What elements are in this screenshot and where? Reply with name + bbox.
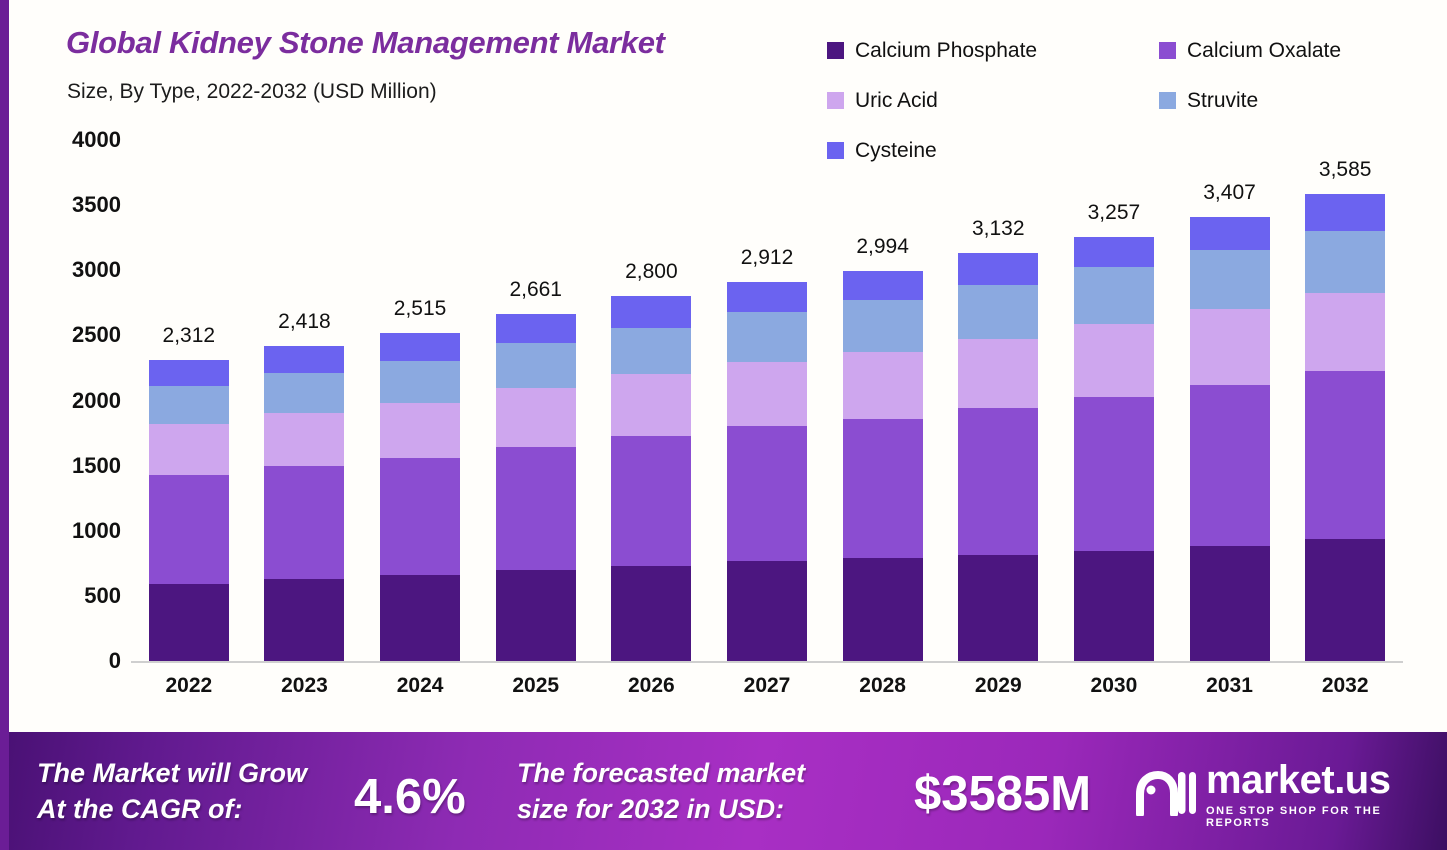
bar-segment-calcium-oxalate[interactable] — [727, 426, 807, 561]
footer-cagr-value: 4.6% — [354, 769, 466, 825]
bar-total-label: 2,515 — [362, 297, 478, 321]
bar-segment-calcium-phosphate[interactable] — [843, 558, 923, 661]
bar-segment-uric-acid[interactable] — [843, 352, 923, 418]
y-axis-tick: 1000 — [29, 518, 121, 544]
bar-segment-struvite[interactable] — [149, 386, 229, 424]
bar-segment-calcium-oxalate[interactable] — [1074, 397, 1154, 551]
stacked-bar[interactable] — [727, 282, 807, 661]
y-axis-tick: 0 — [29, 648, 121, 674]
bar-group-2031[interactable]: 3,4072031 — [1172, 140, 1288, 661]
legend-swatch-icon — [1159, 92, 1176, 109]
bar-segment-uric-acid[interactable] — [727, 362, 807, 426]
bar-segment-calcium-oxalate[interactable] — [380, 458, 460, 575]
bar-segment-calcium-phosphate[interactable] — [727, 561, 807, 661]
y-axis-tick: 3500 — [29, 192, 121, 218]
bar-segment-cysteine[interactable] — [1305, 194, 1385, 231]
bar-segment-uric-acid[interactable] — [1190, 309, 1270, 385]
legend-item-uric-acid[interactable]: Uric Acid — [827, 90, 938, 111]
bar-group-2025[interactable]: 2,6612025 — [478, 140, 594, 661]
bar-segment-calcium-phosphate[interactable] — [958, 555, 1038, 661]
brand-logo: market.us ONE STOP SHOP FOR THE REPORTS — [1134, 760, 1447, 829]
footer-banner: The Market will Grow At the CAGR of: 4.6… — [9, 732, 1447, 850]
stacked-bar[interactable] — [496, 314, 576, 661]
bar-total-label: 3,257 — [1056, 201, 1172, 225]
bar-segment-struvite[interactable] — [496, 343, 576, 387]
stacked-bar[interactable] — [380, 333, 460, 661]
stacked-bar[interactable] — [611, 296, 691, 661]
bar-segment-calcium-oxalate[interactable] — [1190, 385, 1270, 546]
x-axis-tick-2032: 2032 — [1287, 674, 1403, 698]
bar-group-2028[interactable]: 2,9942028 — [825, 140, 941, 661]
bar-group-2026[interactable]: 2,8002026 — [593, 140, 709, 661]
x-axis-tick-2022: 2022 — [131, 674, 247, 698]
bar-total-label: 2,994 — [825, 235, 941, 259]
bar-total-label: 3,132 — [940, 217, 1056, 241]
bar-total-label: 2,912 — [709, 246, 825, 270]
bar-segment-calcium-oxalate[interactable] — [958, 408, 1038, 555]
x-axis-tick-2029: 2029 — [940, 674, 1056, 698]
chart-plot-area: 05001000150020002500300035004000 2,31220… — [9, 140, 1447, 720]
legend-label: Struvite — [1187, 90, 1258, 111]
stacked-bar[interactable] — [264, 346, 344, 661]
y-axis-tick: 2500 — [29, 322, 121, 348]
chart-infographic: Global Kidney Stone Management Market Si… — [0, 0, 1447, 850]
legend-label: Uric Acid — [855, 90, 938, 111]
bar-segment-calcium-oxalate[interactable] — [149, 475, 229, 584]
bar-segment-struvite[interactable] — [380, 361, 460, 403]
bar-group-2032[interactable]: 3,5852032 — [1287, 140, 1403, 661]
legend-swatch-icon — [827, 92, 844, 109]
stacked-bar[interactable] — [1190, 217, 1270, 661]
bar-total-label: 3,585 — [1287, 158, 1403, 182]
legend-swatch-icon — [1159, 42, 1176, 59]
bar-total-label: 2,800 — [593, 260, 709, 284]
bar-segment-calcium-phosphate[interactable] — [1305, 539, 1385, 661]
footer-forecast-label: The forecasted market size for 2032 in U… — [517, 756, 847, 827]
x-axis-tick-2026: 2026 — [593, 674, 709, 698]
bar-total-label: 2,661 — [478, 278, 594, 302]
legend-item-struvite[interactable]: Struvite — [1159, 90, 1258, 111]
x-axis-tick-2024: 2024 — [362, 674, 478, 698]
bar-segment-cysteine[interactable] — [843, 271, 923, 300]
bar-segment-struvite[interactable] — [611, 328, 691, 375]
bar-segment-calcium-phosphate[interactable] — [496, 570, 576, 661]
bar-segment-calcium-oxalate[interactable] — [496, 447, 576, 570]
bar-segment-cysteine[interactable] — [380, 333, 460, 361]
footer-cagr-label: The Market will Grow At the CAGR of: — [37, 756, 337, 827]
bar-segment-struvite[interactable] — [1305, 231, 1385, 293]
brand-text-block: market.us ONE STOP SHOP FOR THE REPORTS — [1206, 760, 1447, 829]
bar-series-container: 2,31220222,41820232,51520242,66120252,80… — [131, 140, 1403, 661]
bar-segment-calcium-oxalate[interactable] — [843, 419, 923, 558]
legend-label: Calcium Oxalate — [1187, 40, 1341, 61]
bar-group-2030[interactable]: 3,2572030 — [1056, 140, 1172, 661]
y-axis-tick: 500 — [29, 583, 121, 609]
x-axis-tick-2027: 2027 — [709, 674, 825, 698]
bar-segment-uric-acid[interactable] — [264, 413, 344, 466]
bar-segment-cysteine[interactable] — [496, 314, 576, 343]
stacked-bar[interactable] — [1305, 194, 1385, 661]
bar-segment-calcium-phosphate[interactable] — [380, 575, 460, 661]
x-axis-tick-2023: 2023 — [246, 674, 362, 698]
bar-total-label: 3,407 — [1172, 181, 1288, 205]
y-axis-tick: 1500 — [29, 453, 121, 479]
brand-tagline: ONE STOP SHOP FOR THE REPORTS — [1206, 805, 1447, 829]
bar-segment-uric-acid[interactable] — [611, 374, 691, 436]
bar-segment-struvite[interactable] — [843, 300, 923, 352]
bar-segment-cysteine[interactable] — [727, 282, 807, 312]
footer-forecast-value: $3585M — [914, 766, 1091, 822]
y-axis: 05001000150020002500300035004000 — [29, 140, 121, 720]
y-axis-tick: 2000 — [29, 388, 121, 414]
brand-name: market.us — [1206, 760, 1447, 800]
x-axis-tick-2031: 2031 — [1172, 674, 1288, 698]
bar-segment-calcium-phosphate[interactable] — [149, 584, 229, 661]
bar-segment-uric-acid[interactable] — [1305, 293, 1385, 371]
legend-swatch-icon — [827, 42, 844, 59]
bar-group-2029[interactable]: 3,1322029 — [940, 140, 1056, 661]
bar-segment-uric-acid[interactable] — [380, 403, 460, 458]
stacked-bar[interactable] — [149, 360, 229, 661]
legend-item-calcium-phosphate[interactable]: Calcium Phosphate — [827, 40, 1037, 61]
bar-segment-calcium-oxalate[interactable] — [611, 436, 691, 566]
stacked-bar[interactable] — [958, 253, 1038, 661]
legend-item-calcium-oxalate[interactable]: Calcium Oxalate — [1159, 40, 1341, 61]
x-axis-tick-2030: 2030 — [1056, 674, 1172, 698]
bar-segment-cysteine[interactable] — [149, 360, 229, 386]
bar-segment-cysteine[interactable] — [264, 346, 344, 373]
bar-segment-cysteine[interactable] — [611, 296, 691, 327]
bar-segment-calcium-phosphate[interactable] — [611, 566, 691, 661]
stacked-bar[interactable] — [1074, 237, 1154, 661]
page-subtitle: Size, By Type, 2022-2032 (USD Million) — [67, 80, 437, 104]
market-us-logo-icon — [1134, 768, 1196, 821]
bar-segment-calcium-oxalate[interactable] — [1305, 371, 1385, 539]
stacked-bar[interactable] — [843, 271, 923, 661]
bar-group-2023[interactable]: 2,4182023 — [246, 140, 362, 661]
bar-segment-uric-acid[interactable] — [496, 388, 576, 447]
y-axis-tick: 3000 — [29, 257, 121, 283]
bar-segment-struvite[interactable] — [1190, 250, 1270, 309]
bar-segment-calcium-phosphate[interactable] — [264, 579, 344, 661]
bar-group-2027[interactable]: 2,9122027 — [709, 140, 825, 661]
bar-segment-struvite[interactable] — [958, 285, 1038, 340]
bar-segment-struvite[interactable] — [1074, 267, 1154, 324]
x-axis-tick-2025: 2025 — [478, 674, 594, 698]
bar-segment-calcium-phosphate[interactable] — [1074, 551, 1154, 661]
x-axis-tick-2028: 2028 — [825, 674, 941, 698]
bar-segment-calcium-oxalate[interactable] — [264, 466, 344, 579]
bar-segment-cysteine[interactable] — [1190, 217, 1270, 250]
x-axis-line — [131, 661, 1403, 663]
bar-group-2024[interactable]: 2,5152024 — [362, 140, 478, 661]
legend-label: Calcium Phosphate — [855, 40, 1037, 61]
page-title: Global Kidney Stone Management Market — [66, 25, 665, 61]
bar-group-2022[interactable]: 2,3122022 — [131, 140, 247, 661]
bar-segment-uric-acid[interactable] — [149, 424, 229, 475]
bar-segment-uric-acid[interactable] — [1074, 324, 1154, 396]
bar-total-label: 2,418 — [246, 310, 362, 334]
bar-total-label: 2,312 — [131, 324, 247, 348]
bar-segment-uric-acid[interactable] — [958, 339, 1038, 408]
bar-segment-struvite[interactable] — [727, 312, 807, 362]
bar-segment-calcium-phosphate[interactable] — [1190, 546, 1270, 661]
bar-segment-struvite[interactable] — [264, 373, 344, 413]
bar-segment-cysteine[interactable] — [958, 253, 1038, 285]
bar-segment-cysteine[interactable] — [1074, 237, 1154, 267]
y-axis-tick: 4000 — [29, 127, 121, 153]
